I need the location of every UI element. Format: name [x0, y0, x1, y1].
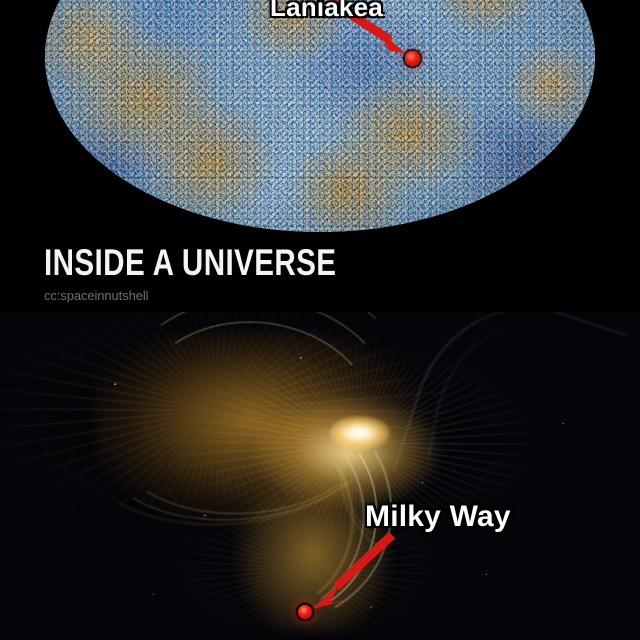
milkyway-marker-dot: [298, 605, 312, 619]
title-band: INSIDE A UNIVERSE cc:spaceinnutshell: [0, 232, 640, 316]
milkyway-arrow-icon: [300, 525, 410, 620]
credit-text: cc:spaceinnutshell: [44, 288, 148, 303]
supercluster-core-node: [330, 416, 390, 450]
laniakea-marker-dot: [405, 51, 420, 66]
laniakea-label: Laniakea: [270, 0, 383, 23]
poster-canvas: Laniakea INSIDE A UNIVERSE cc:spaceinnut…: [0, 0, 640, 640]
cmb-panel: [0, 0, 640, 240]
page-title: INSIDE A UNIVERSE: [44, 244, 336, 281]
milkyway-label: Milky Way: [365, 500, 511, 534]
